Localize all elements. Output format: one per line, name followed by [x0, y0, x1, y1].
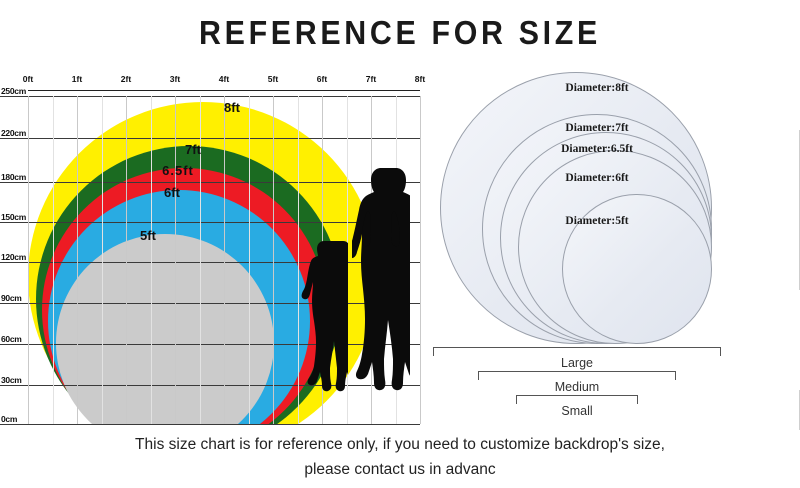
x-axis-tick-label: 5ft: [268, 74, 278, 84]
diameter-label-7ft: Diameter:7ft: [565, 122, 628, 134]
x-axis-tick-label: 7ft: [366, 74, 376, 84]
x-axis-tick-label: 3ft: [170, 74, 180, 84]
size-reference-chart: REFERENCE FOR SIZE 0ft1ft2ft3ft4ft5ft6ft…: [0, 0, 800, 488]
x-axis-tick-label: 6ft: [317, 74, 327, 84]
x-axis-tick-label: 1ft: [72, 74, 82, 84]
footer-line-2: please contact us in advanc: [0, 457, 800, 482]
circle-label-6ft: 6ft: [164, 185, 180, 200]
footer-note: This size chart is for reference only, i…: [0, 432, 800, 482]
diameter-reference-panel: Diameter:8ft Diameter:7ft Diameter:6.5ft…: [430, 60, 800, 430]
child-silhouette: [300, 239, 348, 424]
gridline-vertical: [420, 96, 421, 424]
y-axis-tick-label: 250cm: [1, 86, 26, 96]
circle-label-8ft: 8ft: [224, 100, 240, 115]
y-axis-tick-label: 220cm: [1, 128, 26, 138]
x-axis-line: [28, 90, 420, 91]
x-axis-tick-label: 0ft: [23, 74, 33, 84]
y-axis-tick-label: 0cm: [1, 414, 17, 424]
diameter-label-6-5ft: Diameter:6.5ft: [561, 143, 633, 155]
x-axis-tick-label: 2ft: [121, 74, 131, 84]
page-title: REFERENCE FOR SIZE: [32, 14, 768, 52]
adult-woman-silhouette: [352, 166, 410, 424]
diameter-label-5ft: Diameter:5ft: [565, 215, 628, 227]
diameter-label-8ft: Diameter:8ft: [565, 82, 628, 94]
y-axis-tick-label: 120cm: [1, 252, 26, 262]
y-axis-tick-label: 30cm: [1, 375, 22, 385]
bracket-label-medium: Medium: [555, 380, 599, 394]
circle-label-5ft: 5ft: [140, 228, 156, 243]
footer-line-1: This size chart is for reference only, i…: [0, 432, 800, 457]
y-axis-tick-label: 150cm: [1, 212, 26, 222]
diameter-label-6ft: Diameter:6ft: [565, 172, 628, 184]
height-reference-panel: 0ft1ft2ft3ft4ft5ft6ft7ft8ft 250cm220cm18…: [0, 60, 430, 430]
bracket-medium: [478, 371, 676, 380]
x-axis-tick-label: 8ft: [415, 74, 425, 84]
gridline-horizontal: [0, 424, 420, 425]
x-axis-tick-label: 4ft: [219, 74, 229, 84]
y-axis-tick-label: 90cm: [1, 293, 22, 303]
bracket-label-small: Small: [561, 404, 592, 418]
circle-label-7ft: 7ft: [185, 142, 201, 157]
bracket-small: [516, 395, 638, 404]
y-axis-tick-label: 180cm: [1, 172, 26, 182]
bracket-label-large: Large: [561, 356, 593, 370]
y-axis-tick-label: 60cm: [1, 334, 22, 344]
circle-label-6-5ft: 6.5ft: [162, 163, 194, 178]
bracket-large: [433, 347, 721, 356]
